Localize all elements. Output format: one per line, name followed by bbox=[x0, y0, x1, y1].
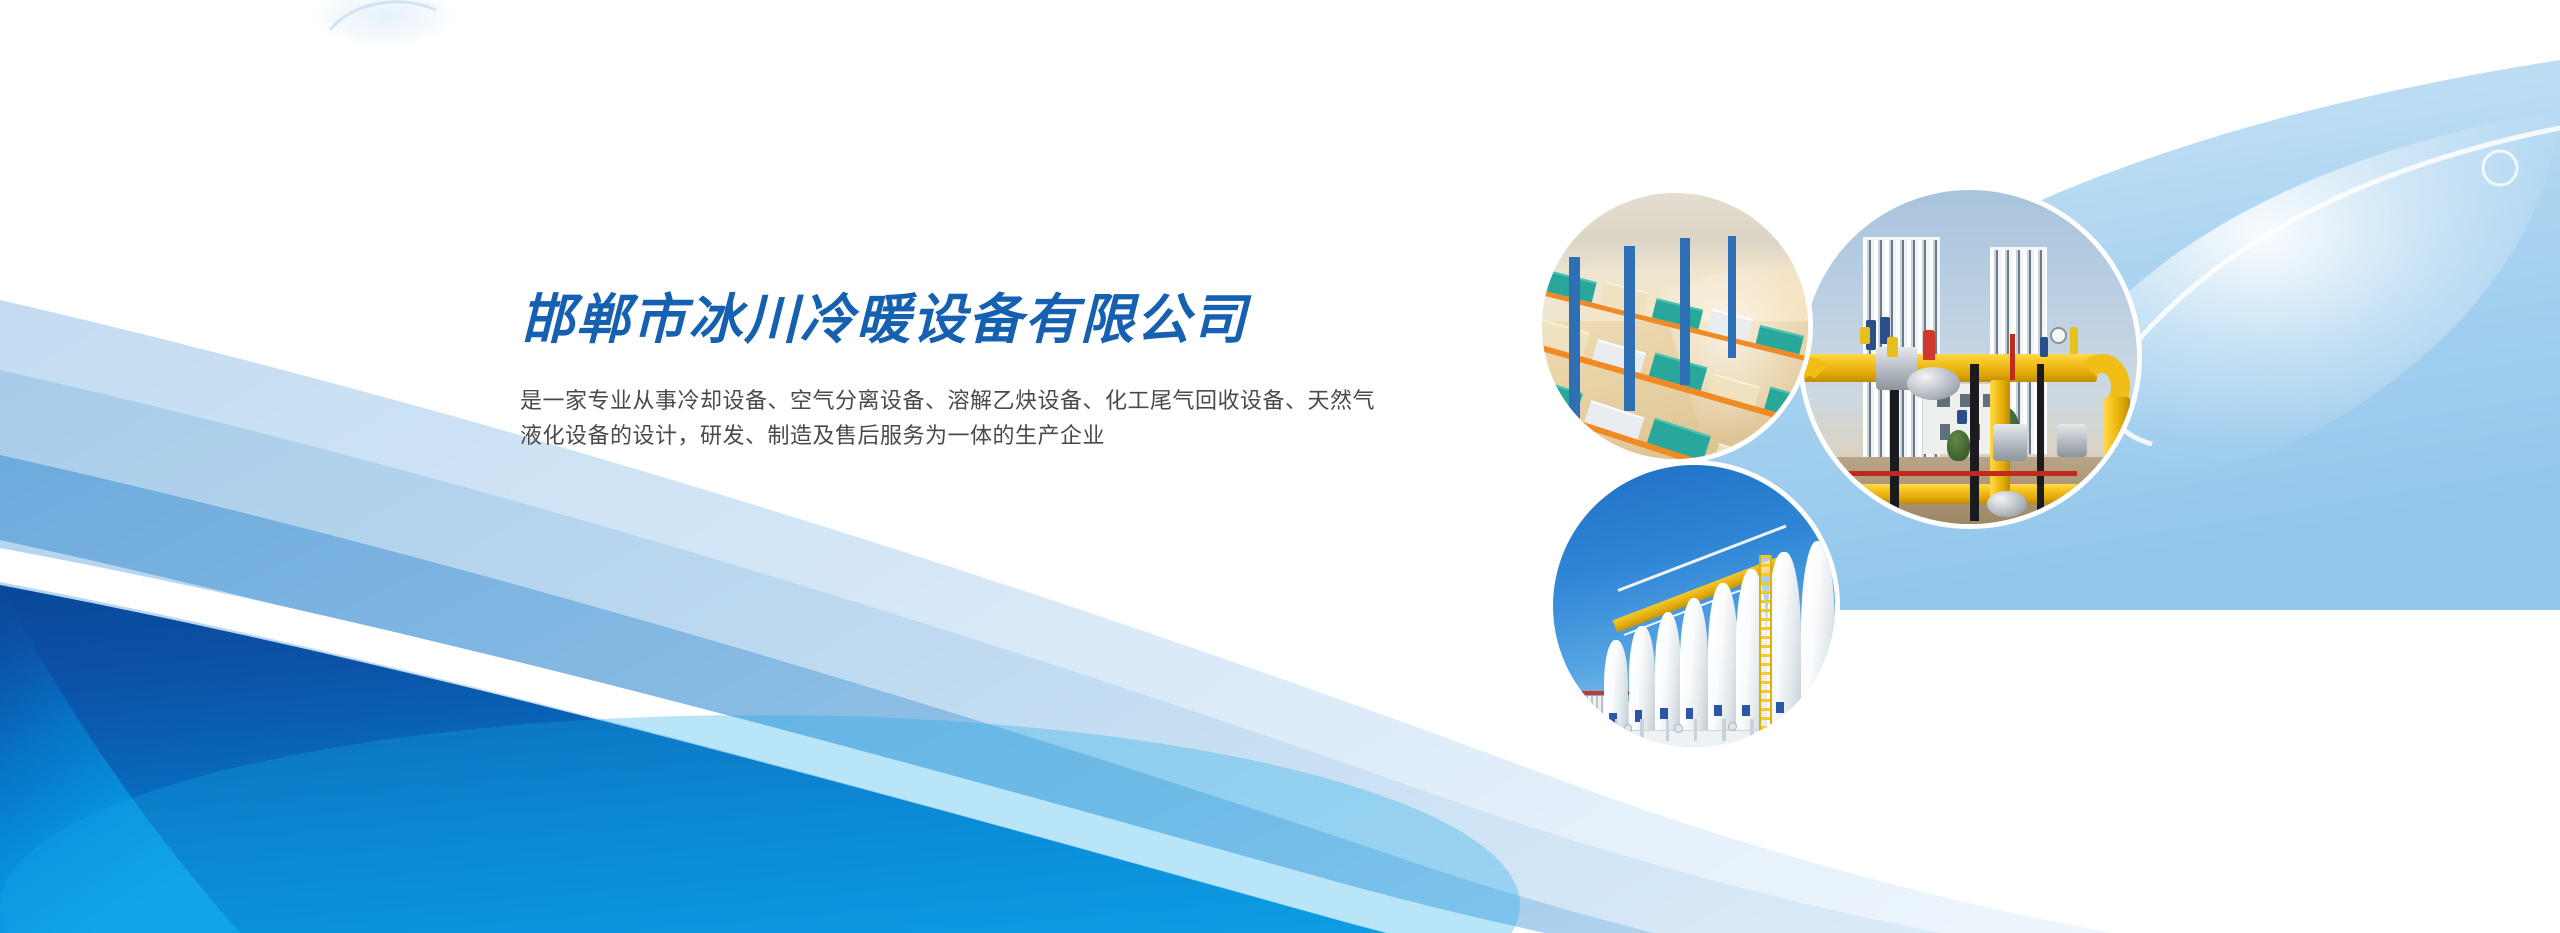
banner-text-block: 邯郸市冰川冷暖设备有限公司 是一家专业从事冷却设备、空气分离设备、溶解乙炔设备、… bbox=[520, 292, 1520, 454]
gas-pipeline-photo bbox=[1798, 185, 2142, 529]
company-name-headline: 邯郸市冰川冷暖设备有限公司 bbox=[520, 292, 1520, 349]
warehouse-photo bbox=[1537, 188, 1813, 464]
description-line-2: 液化设备的设计，研发、制造及售后服务为一体的生产企业 bbox=[520, 418, 1520, 454]
company-banner: 邯郸市冰川冷暖设备有限公司 是一家专业从事冷却设备、空气分离设备、溶解乙炔设备、… bbox=[0, 0, 2560, 933]
cryogenic-tanks-photo bbox=[1548, 460, 1840, 752]
description-line-1: 是一家专业从事冷却设备、空气分离设备、溶解乙炔设备、化工尾气回收设备、天然气 bbox=[520, 383, 1520, 419]
company-description: 是一家专业从事冷却设备、空气分离设备、溶解乙炔设备、化工尾气回收设备、天然气 液… bbox=[520, 383, 1520, 454]
background-wave-artwork bbox=[0, 0, 2560, 933]
